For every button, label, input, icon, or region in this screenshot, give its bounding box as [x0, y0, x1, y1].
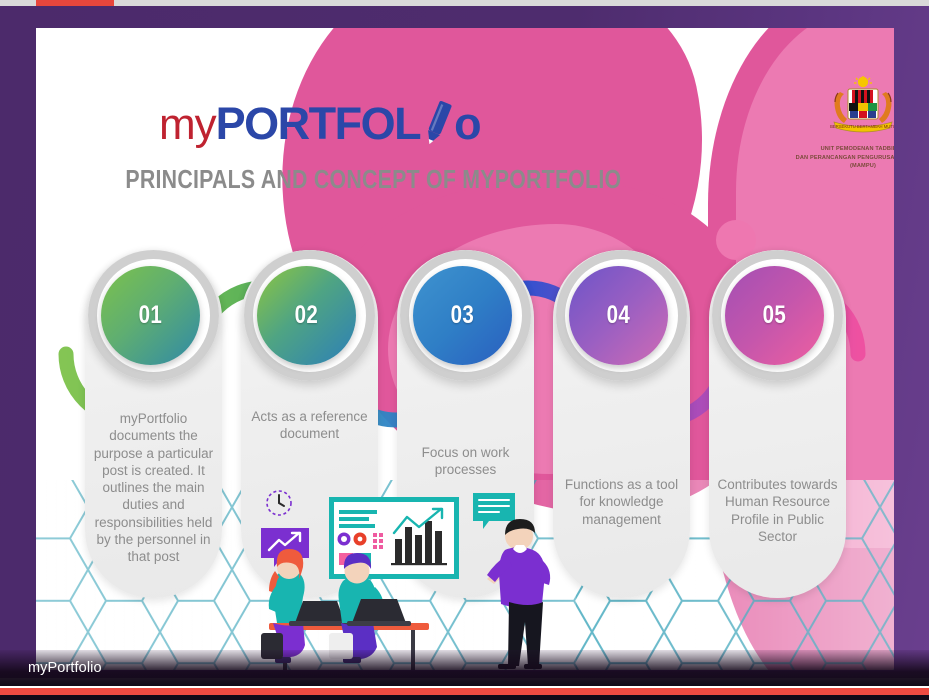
card-badge: 01	[101, 266, 200, 365]
bottom-black-bar	[0, 695, 929, 700]
presentation-frame: myPORTFOL o PRINCIPALS AND CONCEPT OF MY…	[0, 6, 929, 678]
slide-canvas: myPORTFOL o PRINCIPALS AND CONCEPT OF MY…	[0, 0, 929, 700]
person-presenter	[487, 519, 550, 669]
card-number: 02	[295, 301, 319, 330]
person-seated-left	[261, 549, 305, 663]
slide-content: myPORTFOL o PRINCIPALS AND CONCEPT OF MY…	[36, 28, 894, 670]
card-number: 04	[607, 301, 631, 330]
card-badge: 04	[569, 266, 668, 365]
card-number: 05	[763, 301, 787, 330]
card-badge: 03	[413, 266, 512, 365]
card-description: Acts as a reference document	[247, 408, 372, 443]
bottom-red-bar	[0, 688, 929, 695]
card-badge: 02	[257, 266, 356, 365]
slide-caption-bar: myPortfolio	[0, 650, 929, 686]
card-number: 01	[139, 301, 163, 330]
card-description: Contributes towards Human Resource Profi…	[715, 476, 840, 545]
card-badge: 05	[725, 266, 824, 365]
card-description: Focus on work processes	[403, 444, 528, 479]
team-presentation-illustration	[251, 483, 581, 670]
card-number: 03	[451, 301, 475, 330]
clock-icon	[267, 491, 291, 515]
caption-label: myPortfolio	[28, 660, 102, 676]
card-description: myPortfolio documents the purpose a part…	[91, 410, 216, 565]
